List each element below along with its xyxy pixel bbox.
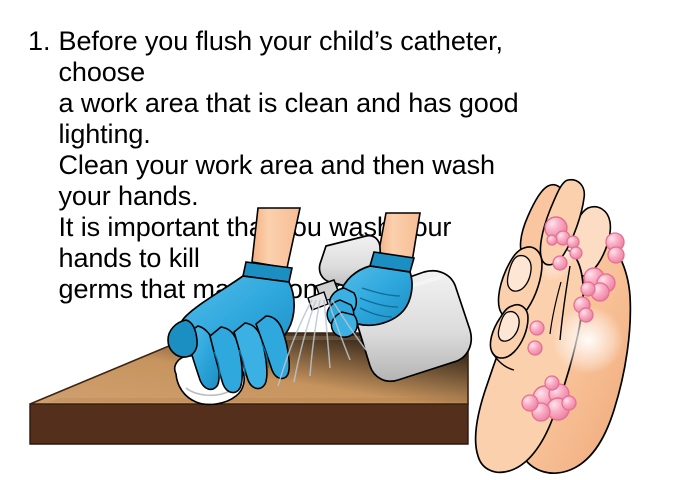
lower-finger [490,305,528,358]
table-edge [30,404,468,444]
back-hand-index-finger [564,207,611,277]
table-top [30,333,468,404]
page-root: 1. Before you flush your child’s cathete… [0,0,700,480]
upper-finger-b [540,180,584,265]
spray-stream [278,300,366,386]
knuckle-crease-3 [550,282,561,334]
table-texture [48,336,466,402]
back-hand [514,232,630,473]
step-body-text: Before you flush your child’s catheter, … [59,26,528,305]
palm-highlight [552,306,624,374]
instruction-step: 1. Before you flush your child’s cathete… [28,26,528,305]
lower-finger-nail [498,312,519,342]
finger-highlight [533,223,581,286]
germ-clusters [522,217,624,421]
cleaning-cloth-shadow [186,388,230,395]
step-number: 1. [28,26,51,57]
knuckle-crease-2 [560,266,570,340]
cleaning-cloth [175,356,244,405]
knuckle-crease-1 [492,352,514,370]
